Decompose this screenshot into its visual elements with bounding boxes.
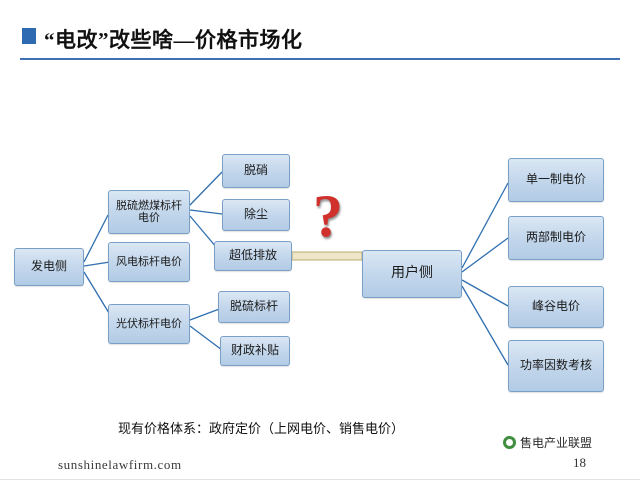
page-title: “电改”改些啥—价格市场化 [44, 24, 303, 54]
node-label: 脱硫标杆 [230, 300, 278, 313]
node-solar-benchmark-price[interactable]: 光伏标杆电价 [108, 304, 190, 344]
node-denitrification[interactable]: 脱硝 [222, 154, 290, 188]
node-label: 两部制电价 [526, 231, 586, 244]
node-label: 用户侧 [391, 266, 433, 282]
node-dust-removal[interactable]: 除尘 [222, 199, 290, 231]
node-two-part-tariff[interactable]: 两部制电价 [508, 216, 604, 260]
node-label: 发电侧 [31, 260, 67, 273]
header-divider [20, 58, 620, 60]
node-label: 峰谷电价 [532, 300, 580, 313]
brand-watermark: 售电产业联盟 [503, 434, 592, 451]
node-fiscal-subsidy[interactable]: 财政补贴 [220, 336, 290, 366]
node-label: 脱硝 [244, 164, 268, 177]
node-wind-benchmark-price[interactable]: 风电标杆电价 [108, 242, 190, 282]
node-user-side[interactable]: 用户侧 [362, 250, 462, 298]
node-desulfurization-benchmark[interactable]: 脱硫标杆 [218, 291, 290, 323]
node-label: 单一制电价 [526, 173, 586, 186]
question-mark-graphic: ? [305, 186, 351, 254]
node-label: 功率因数考核 [520, 359, 592, 372]
brand-label: 售电产业联盟 [520, 434, 592, 451]
node-power-factor-assessment[interactable]: 功率因数考核 [508, 340, 604, 392]
node-coal-benchmark-price[interactable]: 脱硫燃煤标杆电价 [108, 190, 190, 234]
circle-logo-icon [503, 436, 516, 449]
node-label: 光伏标杆电价 [116, 318, 182, 330]
node-label: 超低排放 [229, 249, 277, 262]
node-peak-valley-tariff[interactable]: 峰谷电价 [508, 286, 604, 328]
slide-header: “电改”改些啥—价格市场化 [0, 0, 640, 66]
page-number: 18 [573, 455, 586, 471]
node-label: 风电标杆电价 [116, 256, 182, 268]
node-label: 脱硫燃煤标杆电价 [111, 200, 187, 225]
square-bullet-icon [22, 28, 36, 44]
node-generation-side[interactable]: 发电侧 [14, 248, 84, 286]
footer-caption: 现有价格体系：政府定价（上网电价、销售电价） [118, 418, 404, 437]
slide-canvas: “电改”改些啥—价格市场化 [0, 0, 640, 480]
site-url[interactable]: sunshinelawfirm.com [58, 457, 182, 473]
question-mark-label: ? [313, 183, 343, 249]
node-label: 财政补贴 [231, 344, 279, 357]
node-ultra-low-emission[interactable]: 超低排放 [214, 241, 292, 271]
node-label: 除尘 [244, 208, 268, 221]
node-single-tariff[interactable]: 单一制电价 [508, 158, 604, 202]
